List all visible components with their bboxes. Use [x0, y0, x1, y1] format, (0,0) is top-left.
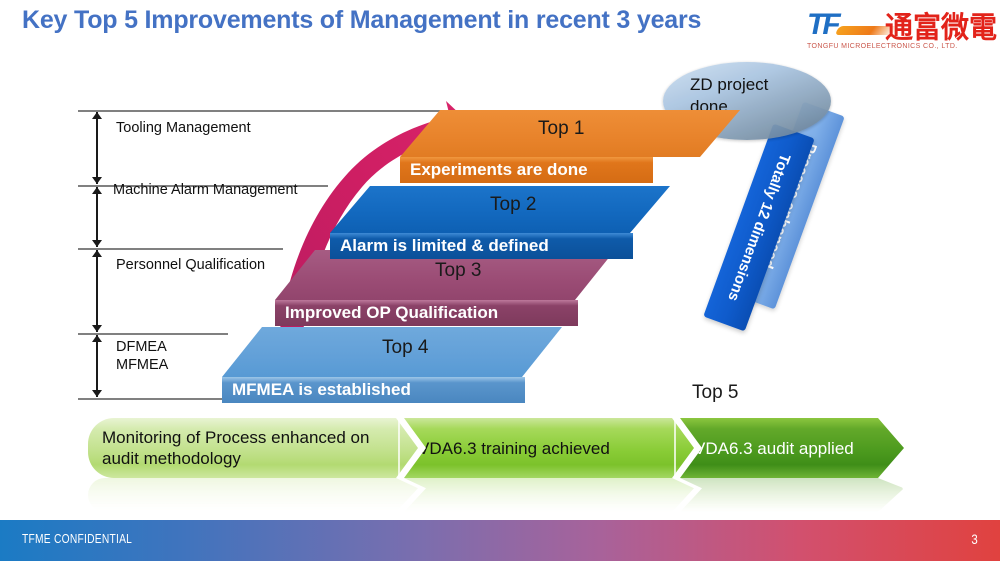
step-top-4-caption: MFMEA is established: [222, 377, 525, 403]
step-top-4-rank: Top 4: [382, 337, 428, 359]
chevron-bar-reflection: [88, 478, 904, 512]
chevron-segment-monitoring-label: Monitoring of Process enhanced on audit …: [88, 427, 418, 469]
chevron-segment-training-label: VDA6.3 training achieved: [404, 438, 620, 459]
step-top-2-rank: Top 2: [490, 194, 536, 216]
chevron-reflection-3: [680, 478, 904, 512]
step-top-1[interactable]: Top 1 Experiments are done: [400, 110, 740, 157]
top-5-rank-label: Top 5: [692, 382, 738, 404]
step-top-3-rank: Top 3: [435, 260, 481, 282]
step-top-1-rank: Top 1: [538, 118, 584, 140]
step-top-1-caption: Experiments are done: [400, 157, 653, 183]
footer-confidential-label: TFME CONFIDENTIAL: [22, 532, 132, 546]
slide-footer: TFME CONFIDENTIAL 3: [0, 520, 1000, 561]
chevron-segment-audit-label: VDA6.3 audit applied: [680, 438, 864, 459]
zd-project-line1: ZD project: [690, 74, 820, 96]
step-top-4[interactable]: Top 4 MFMEA is established: [222, 327, 562, 377]
step-top-2[interactable]: Top 2 Alarm is limited & defined: [330, 186, 670, 233]
chevron-segment-training[interactable]: VDA6.3 training achieved: [404, 418, 694, 478]
top-5-chevron-bar: Monitoring of Process enhanced on audit …: [88, 418, 904, 478]
step-top-3-caption: Improved OP Qualification: [275, 300, 578, 326]
footer-page-number: 3: [972, 531, 978, 547]
step-top-2-caption: Alarm is limited & defined: [330, 233, 633, 259]
chevron-reflection-1: [88, 478, 418, 512]
chevron-segment-monitoring[interactable]: Monitoring of Process enhanced on audit …: [88, 418, 418, 478]
chevron-segment-audit[interactable]: VDA6.3 audit applied: [680, 418, 904, 478]
slide-root: Key Top 5 Improvements of Management in …: [0, 0, 1000, 561]
chevron-reflection-2: [404, 478, 694, 512]
